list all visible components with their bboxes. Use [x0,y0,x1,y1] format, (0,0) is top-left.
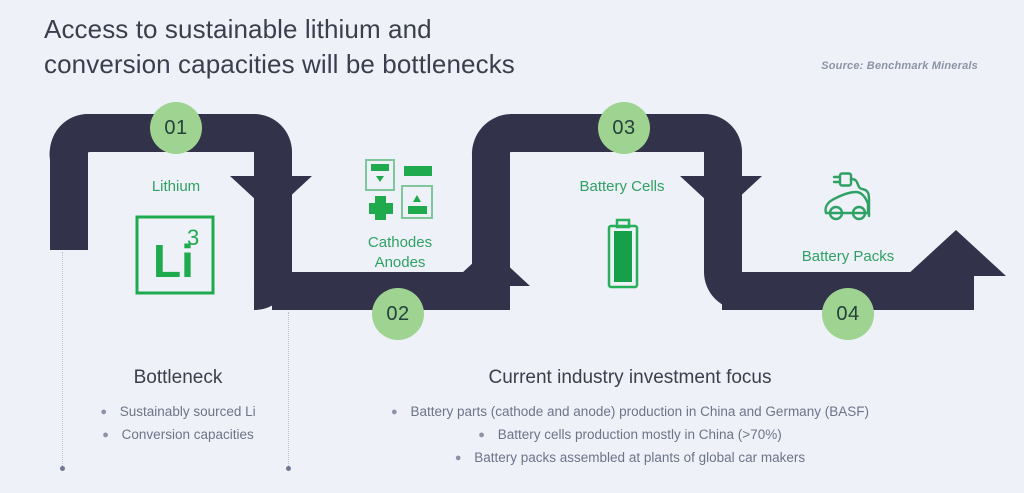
step-number-04: 04 [836,303,859,326]
list-item: ● Battery parts (cathode and anode) prod… [346,400,914,423]
list-item: ● Battery packs assembled at plants of g… [346,446,914,469]
flow-bottom-bar-1b [272,272,472,310]
stage-label-lithium: Lithium [106,177,246,197]
lithium-element-icon: Li 3 [135,215,215,295]
investment-focus-heading: Current industry investment focus [376,367,884,389]
list-item: ● Battery cells production mostly in Chi… [346,423,914,446]
list-item-label: Conversion capacities [122,427,254,442]
list-item: ● Conversion capacities [58,423,298,446]
flow-corner-tl [50,114,90,160]
list-item-label: Battery parts (cathode and anode) produc… [410,404,869,419]
stage-label-battery-packs: Battery Packs [778,247,918,267]
cathode-anode-icon [364,158,436,220]
list-item-label: Battery packs assembled at plants of glo… [474,450,805,465]
bottleneck-heading: Bottleneck [78,367,278,389]
list-item: ● Sustainably sourced Li [58,400,298,423]
bullet-dot: ● [102,426,109,445]
step-circle-04[interactable]: 04 [822,288,874,340]
bullet-dot: ● [478,426,485,445]
divider-dot-left [60,466,65,471]
battery-cell-icon [605,218,641,290]
bullet-dot: ● [391,403,398,422]
list-item-label: Battery cells production mostly in China… [498,427,782,442]
electric-car-icon [822,168,886,228]
bottleneck-bullets: ● Sustainably sourced Li ● Conversion ca… [58,400,298,446]
flow-corner-tl-2 [472,114,512,156]
lithium-atomic-number: 3 [187,225,199,250]
step-circle-01[interactable]: 01 [150,102,202,154]
flow-corner-br-2 [936,272,974,296]
stage-label-battery-cells: Battery Cells [552,177,692,197]
step-number-02: 02 [386,303,409,326]
list-item-label: Sustainably sourced Li [120,404,256,419]
bullet-dot: ● [455,449,462,468]
step-number-03: 03 [612,117,635,140]
bullet-dot: ● [100,403,107,422]
flow-final-stem [936,296,974,300]
step-number-01: 01 [164,117,187,140]
slide-canvas: Access to sustainable lithium and conver… [0,0,1024,493]
divider-dot-middle [286,466,291,471]
stage-label-cathodes-anodes: Cathodes Anodes [330,233,470,274]
flow-hump2-right-stem [704,186,742,272]
step-circle-03[interactable]: 03 [598,102,650,154]
flow-hump2-left [472,152,510,296]
step-circle-02[interactable]: 02 [372,288,424,340]
investment-focus-bullets: ● Battery parts (cathode and anode) prod… [346,400,914,470]
